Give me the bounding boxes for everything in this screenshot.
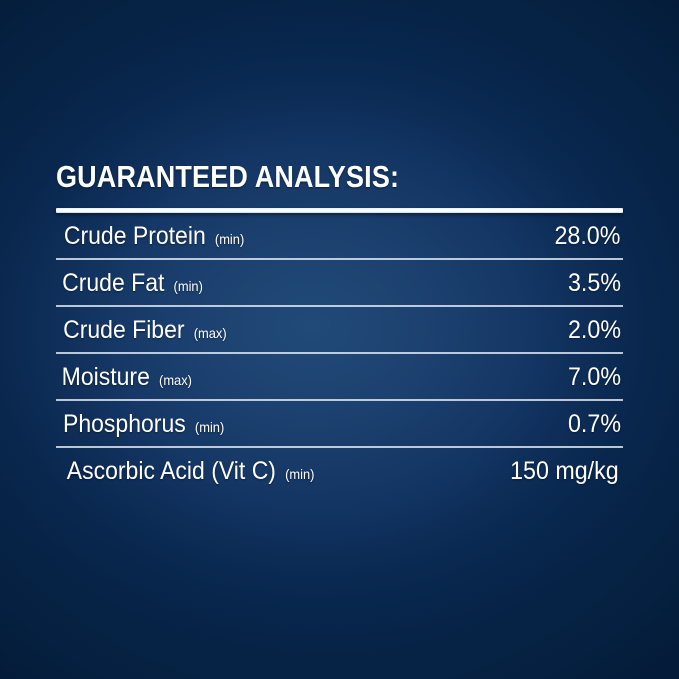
nutrient-label: Phosphorus (min) [63, 410, 224, 441]
table-row: Crude Fat (min)3.5% [56, 260, 623, 307]
nutrient-qualifier: (max) [191, 325, 227, 341]
nutrient-label: Ascorbic Acid (Vit C) (min) [67, 457, 315, 488]
nutrient-label: Moisture (max) [62, 363, 192, 394]
nutrient-qualifier: (min) [282, 466, 314, 482]
nutrient-name: Crude Fat [62, 269, 164, 297]
guaranteed-analysis-panel: GUARANTEED ANALYSIS: Crude Protein (min)… [0, 0, 679, 679]
nutrient-qualifier: (min) [212, 231, 244, 247]
nutrient-qualifier: (min) [192, 419, 224, 435]
nutrient-name: Crude Fiber [63, 316, 184, 344]
nutrient-name: Crude Protein [64, 222, 206, 250]
table-row: Phosphorus (min)0.7% [56, 401, 623, 448]
page-title: GUARANTEED ANALYSIS: [56, 160, 549, 194]
nutrient-value: 3.5% [568, 269, 621, 297]
nutrient-value: 2.0% [568, 316, 621, 344]
table-row: Crude Fiber (max)2.0% [56, 307, 623, 354]
table-row: Ascorbic Acid (Vit C) (min)150 mg/kg [56, 448, 623, 495]
table-row: Moisture (max)7.0% [56, 354, 623, 401]
nutrient-value: 7.0% [568, 363, 621, 391]
nutrient-name: Moisture [62, 363, 150, 391]
nutrient-qualifier: (max) [156, 372, 192, 388]
guaranteed-analysis-content: GUARANTEED ANALYSIS: Crude Protein (min)… [56, 160, 623, 495]
nutrient-name: Ascorbic Acid (Vit C) [67, 457, 276, 485]
guaranteed-analysis-table: Crude Protein (min)28.0%Crude Fat (min)3… [56, 213, 623, 495]
nutrient-label: Crude Protein (min) [64, 222, 244, 253]
table-row: Crude Protein (min)28.0% [56, 213, 623, 260]
nutrient-label: Crude Fiber (max) [63, 316, 227, 347]
nutrient-value: 0.7% [568, 410, 621, 438]
nutrient-name: Phosphorus [63, 410, 186, 438]
nutrient-value: 150 mg/kg [510, 457, 619, 485]
nutrient-label: Crude Fat (min) [62, 269, 203, 300]
nutrient-value: 28.0% [555, 222, 621, 250]
nutrient-qualifier: (min) [171, 278, 203, 294]
